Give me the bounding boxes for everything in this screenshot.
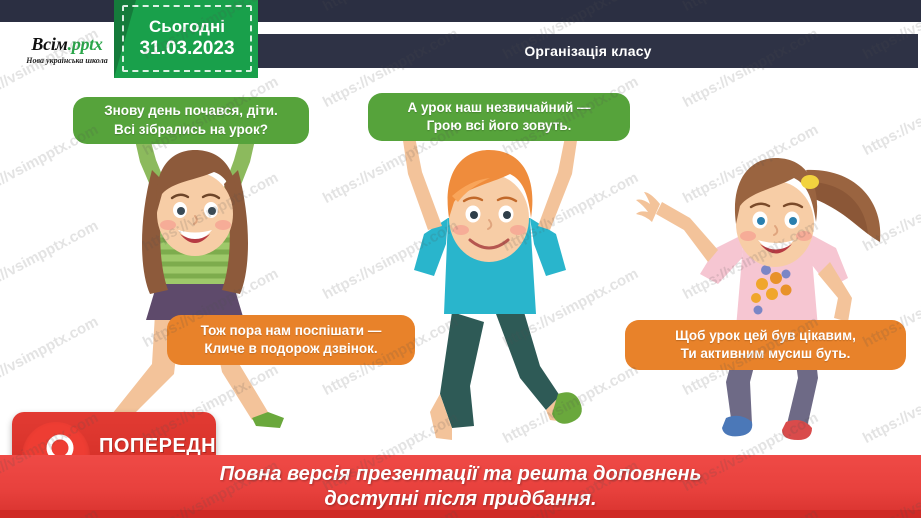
bubble-girl-left: Знову день почався, діти. Всі зібрались … (73, 97, 309, 144)
bubble-hurry: Тож пора нам поспішати — Кличе в подорож… (167, 315, 415, 365)
logo-word-green: .pptx (68, 34, 103, 54)
bubble-girl-right: Щоб урок цей був цікавим, Ти активним му… (625, 320, 906, 370)
bubble-line-2: Кличе в подорож дзвінок. (204, 340, 377, 358)
banner-footer-strip (0, 510, 921, 518)
date-tag-value: 31.03.2023 (139, 37, 234, 61)
bubble-line-1: Тож пора нам поспішати — (201, 322, 382, 340)
bubble-line-1: А урок наш незвичайний — (407, 99, 590, 117)
purchase-banner: Повна версія презентації та решта доповн… (0, 455, 921, 518)
character-girl-right (636, 158, 880, 440)
bubble-line-2: Ти активним мусиш буть. (681, 345, 851, 363)
bubble-line-2: Всі зібрались на урок? (114, 121, 268, 139)
banner-line-1: Повна версія презентації та решта доповн… (220, 462, 702, 487)
preview-badge-line-1: ПОПЕРЕДНІЙ (99, 436, 216, 456)
bubble-line-1: Щоб урок цей був цікавим, (675, 327, 856, 345)
slide-preview: Знову день почався, діти. Всі зібрались … (0, 0, 921, 518)
date-tag-inner: Сьогодні 31.03.2023 (122, 5, 252, 72)
brand-logo: Всім.pptx Нова українська школа (8, 24, 126, 74)
logo-word-black: Всім (31, 34, 67, 54)
character-boy-middle (402, 132, 582, 440)
logo-subtitle: Нова українська школа (26, 56, 107, 65)
slide-title-bar: Організація класу (258, 34, 918, 68)
bubble-boy-middle: А урок наш незвичайний — Грою всі його з… (368, 93, 630, 141)
date-tag-label: Сьогодні (149, 16, 225, 37)
logo-wordmark: Всім.pptx (31, 34, 102, 55)
bubble-line-2: Грою всі його зовуть. (427, 117, 572, 135)
bubble-line-1: Знову день почався, діти. (104, 102, 278, 120)
children-illustration (0, 22, 921, 458)
today-date-tag: Сьогодні 31.03.2023 (114, 0, 258, 78)
character-girl-left (96, 113, 284, 430)
banner-line-2: доступні після придбання. (324, 487, 596, 512)
page-title: Організація класу (524, 43, 651, 59)
